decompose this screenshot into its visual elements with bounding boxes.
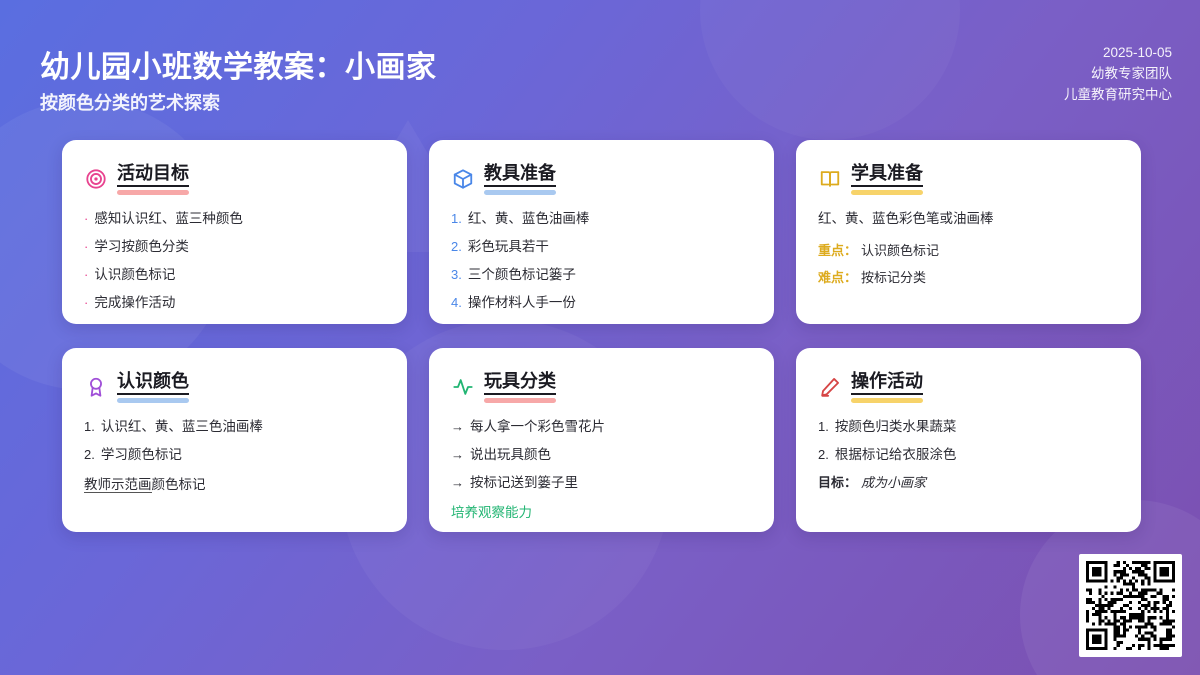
card-body: 红、黄、蓝色彩色笔或油画棒重点：认识颜色标记难点：按标记分类: [818, 209, 1119, 287]
list-item: →每人拿一个彩色雪花片: [451, 417, 752, 436]
key-value: 按标记分类: [861, 270, 926, 285]
activity-icon: [451, 375, 475, 399]
pen-icon: [818, 375, 842, 399]
footer-rest-part: 颜色标记: [152, 477, 206, 492]
title-accent-bar: [851, 190, 923, 195]
key-value-row: 目标：成为小画家: [818, 473, 1119, 492]
meta-date: 2025-10-05: [1064, 42, 1172, 63]
card-title-wrap: 玩具分类: [484, 370, 556, 403]
card-title: 教具准备: [484, 162, 556, 187]
card-student-materials: 学具准备红、黄、蓝色彩色笔或油画棒重点：认识颜色标记难点：按标记分类: [796, 140, 1141, 324]
list-item: 1.认识红、黄、蓝三色油画棒: [84, 417, 385, 436]
list-item-text: 感知认识红、蓝三种颜色: [94, 209, 385, 228]
key-value: 成为小画家: [861, 475, 926, 490]
list-marker: →: [451, 417, 464, 436]
list-item-text: 红、黄、蓝色油画棒: [468, 209, 752, 228]
list-item-text: 彩色玩具若干: [468, 237, 752, 256]
card-title: 玩具分类: [484, 370, 556, 395]
card-body: 1.按颜色归类水果蔬菜2.根据标记给衣服涂色目标：成为小画家: [818, 417, 1119, 492]
qr-code[interactable]: [1079, 554, 1182, 657]
list-marker: ·: [84, 293, 88, 312]
list-item-text: 完成操作活动: [94, 293, 385, 312]
list-item: 2.彩色玩具若干: [451, 237, 752, 256]
card-footer-note: 教师示范画颜色标记: [84, 475, 385, 494]
list-marker: 3.: [451, 265, 462, 284]
card-activity-goals: 活动目标·感知认识红、蓝三种颜色·学习按颜色分类·认识颜色标记·完成操作活动: [62, 140, 407, 324]
list-marker: 2.: [451, 237, 462, 256]
card-header: 教具准备: [451, 162, 752, 195]
card-body: ·感知认识红、蓝三种颜色·学习按颜色分类·认识颜色标记·完成操作活动: [84, 209, 385, 312]
title-accent-bar: [117, 190, 189, 195]
list-item: ·感知认识红、蓝三种颜色: [84, 209, 385, 228]
card-header: 学具准备: [818, 162, 1119, 195]
list-item: →说出玩具颜色: [451, 445, 752, 464]
meta-org: 儿童教育研究中心: [1064, 84, 1172, 105]
card-toy-classification: 玩具分类→每人拿一个彩色雪花片→说出玩具颜色→按标记送到篓子里培养观察能力: [429, 348, 774, 532]
list-marker: →: [451, 473, 464, 492]
key-label: 目标：: [818, 475, 857, 490]
card-header: 认识颜色: [84, 370, 385, 403]
card-title: 活动目标: [117, 162, 189, 187]
box-icon: [451, 167, 475, 191]
list-item-text: 三个颜色标记篓子: [468, 265, 752, 284]
list-marker: 2.: [818, 445, 829, 464]
page-title: 幼儿园小班数学教案：小画家: [40, 42, 437, 86]
award-icon: [84, 375, 108, 399]
list-marker: 1.: [84, 417, 95, 436]
meta-author: 幼教专家团队: [1064, 63, 1172, 84]
list-marker: 1.: [818, 417, 829, 436]
card-title-wrap: 学具准备: [851, 162, 923, 195]
book-icon: [818, 167, 842, 191]
key-value-row: 难点：按标记分类: [818, 268, 1119, 287]
target-icon: [84, 167, 108, 191]
list-item: 4.操作材料人手一份: [451, 293, 752, 312]
list-item: →按标记送到篓子里: [451, 473, 752, 492]
card-body: 1.红、黄、蓝色油画棒2.彩色玩具若干3.三个颜色标记篓子4.操作材料人手一份: [451, 209, 752, 312]
list-item-text: 每人拿一个彩色雪花片: [470, 417, 752, 436]
list-item: 1.红、黄、蓝色油画棒: [451, 209, 752, 228]
card-recognize-colors: 认识颜色1.认识红、黄、蓝三色油画棒2.学习颜色标记教师示范画颜色标记: [62, 348, 407, 532]
card-title-wrap: 认识颜色: [117, 370, 189, 403]
list-item-text: 认识红、黄、蓝三色油画棒: [101, 417, 385, 436]
list-item: 2.根据标记给衣服涂色: [818, 445, 1119, 464]
key-label: 难点：: [818, 270, 857, 285]
list-item-text: 认识颜色标记: [94, 265, 385, 284]
card-title-wrap: 教具准备: [484, 162, 556, 195]
title-accent-bar: [484, 398, 556, 403]
card-title: 认识颜色: [117, 370, 189, 395]
key-value: 认识颜色标记: [861, 243, 939, 258]
list-marker: ·: [84, 237, 88, 256]
title-accent-bar: [851, 398, 923, 403]
card-title: 操作活动: [851, 370, 923, 395]
list-marker: ·: [84, 265, 88, 284]
list-item-text: 学习按颜色分类: [94, 237, 385, 256]
card-body: →每人拿一个彩色雪花片→说出玩具颜色→按标记送到篓子里培养观察能力: [451, 417, 752, 522]
list-item-text: 根据标记给衣服涂色: [835, 445, 1119, 464]
list-item: 1.按颜色归类水果蔬菜: [818, 417, 1119, 436]
card-grid: 活动目标·感知认识红、蓝三种颜色·学习按颜色分类·认识颜色标记·完成操作活动教具…: [62, 140, 1140, 532]
list-marker: 4.: [451, 293, 462, 312]
slide-root: 幼儿园小班数学教案：小画家 按颜色分类的艺术探索 2025-10-05 幼教专家…: [0, 0, 1200, 675]
list-marker: 1.: [451, 209, 462, 228]
slide-header: 幼儿园小班数学教案：小画家 按颜色分类的艺术探索 2025-10-05 幼教专家…: [0, 0, 1200, 128]
card-teaching-materials: 教具准备1.红、黄、蓝色油画棒2.彩色玩具若干3.三个颜色标记篓子4.操作材料人…: [429, 140, 774, 324]
list-item-text: 学习颜色标记: [101, 445, 385, 464]
card-title-wrap: 操作活动: [851, 370, 923, 403]
key-label: 重点：: [818, 243, 857, 258]
card-hands-on-activity: 操作活动1.按颜色归类水果蔬菜2.根据标记给衣服涂色目标：成为小画家: [796, 348, 1141, 532]
list-marker: 2.: [84, 445, 95, 464]
card-body: 1.认识红、黄、蓝三色油画棒2.学习颜色标记教师示范画颜色标记: [84, 417, 385, 494]
page-subtitle: 按颜色分类的艺术探索: [40, 89, 220, 115]
list-item-text: 说出玩具颜色: [470, 445, 752, 464]
list-item-text: 操作材料人手一份: [468, 293, 752, 312]
footer-underlined-part: 教师示范画: [84, 477, 152, 493]
list-item: 3.三个颜色标记篓子: [451, 265, 752, 284]
list-item: ·学习按颜色分类: [84, 237, 385, 256]
card-title: 学具准备: [851, 162, 923, 187]
list-item: ·认识颜色标记: [84, 265, 385, 284]
key-value-row: 重点：认识颜色标记: [818, 241, 1119, 260]
list-item-text: 按颜色归类水果蔬菜: [835, 417, 1119, 436]
card-header: 操作活动: [818, 370, 1119, 403]
title-accent-bar: [484, 190, 556, 195]
card-lead-text: 红、黄、蓝色彩色笔或油画棒: [818, 209, 1119, 228]
list-marker: ·: [84, 209, 88, 228]
card-header: 活动目标: [84, 162, 385, 195]
card-header: 玩具分类: [451, 370, 752, 403]
qr-code-image: [1086, 561, 1175, 650]
list-item: ·完成操作活动: [84, 293, 385, 312]
title-accent-bar: [117, 398, 189, 403]
header-meta: 2025-10-05 幼教专家团队 儿童教育研究中心: [1064, 42, 1172, 105]
list-marker: →: [451, 445, 464, 464]
list-item-text: 按标记送到篓子里: [470, 473, 752, 492]
card-title-wrap: 活动目标: [117, 162, 189, 195]
list-item: 2.学习颜色标记: [84, 445, 385, 464]
card-footer-note: 培养观察能力: [451, 503, 752, 522]
